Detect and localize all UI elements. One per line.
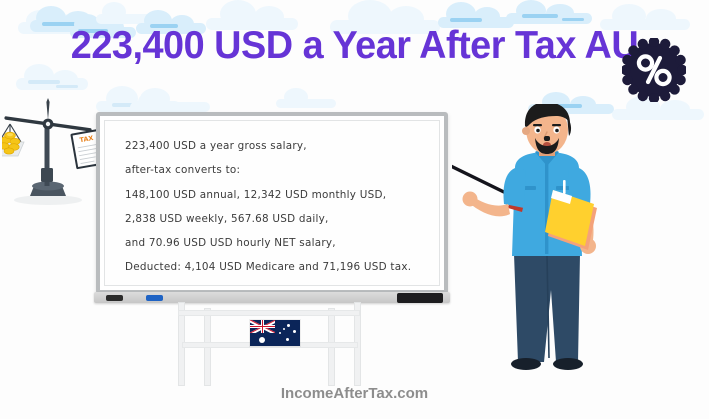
cloud-decoration [96, 86, 180, 112]
page-title: 223,400 USD a Year After Tax AU [11, 24, 699, 68]
cloud-decoration [130, 88, 210, 112]
easel-crossbar [178, 310, 360, 316]
whiteboard-line: Deducted: 4,104 USD Medicare and 71,196 … [125, 255, 435, 279]
flag-star [283, 328, 285, 330]
cloud-decoration [506, 0, 592, 24]
site-footer: IncomeAfterTax.com [0, 385, 709, 402]
flag-star [293, 330, 296, 333]
easel-stand [96, 302, 448, 386]
whiteboard-line: 223,400 USD a year gross salary, [125, 134, 435, 158]
flag-star [286, 338, 289, 341]
blue-marker-icon [146, 295, 163, 301]
flag-star [287, 324, 290, 327]
black-marker-icon [106, 295, 123, 301]
percent-badge-icon [622, 38, 686, 102]
whiteboard-text: 223,400 USD a year gross salary, after-t… [125, 134, 435, 280]
page-root: 223,400 USD a Year After Tax AU [0, 0, 709, 419]
flag-union-jack [250, 320, 275, 333]
australia-flag-icon [250, 320, 300, 346]
whiteboard-line: 2,838 USD weekly, 567.68 USD daily, [125, 207, 435, 231]
balance-scale-icon: TAX [2, 96, 106, 208]
presenter-man-illustration [452, 104, 642, 372]
whiteboard: 223,400 USD a year gross salary, after-t… [96, 112, 448, 308]
cloud-decoration [276, 88, 336, 108]
flag-commonwealth-star [259, 337, 265, 343]
whiteboard-line: after-tax converts to: [125, 158, 435, 182]
whiteboard-line: and 70.96 USD USD hourly NET salary, [125, 231, 435, 255]
cloud-decoration [96, 2, 154, 24]
whiteboard-surface: 223,400 USD a year gross salary, after-t… [104, 120, 440, 286]
flag-star [279, 332, 281, 334]
whiteboard-frame: 223,400 USD a year gross salary, after-t… [96, 112, 448, 294]
whiteboard-line: 148,100 USD annual, 12,342 USD monthly U… [125, 183, 435, 207]
